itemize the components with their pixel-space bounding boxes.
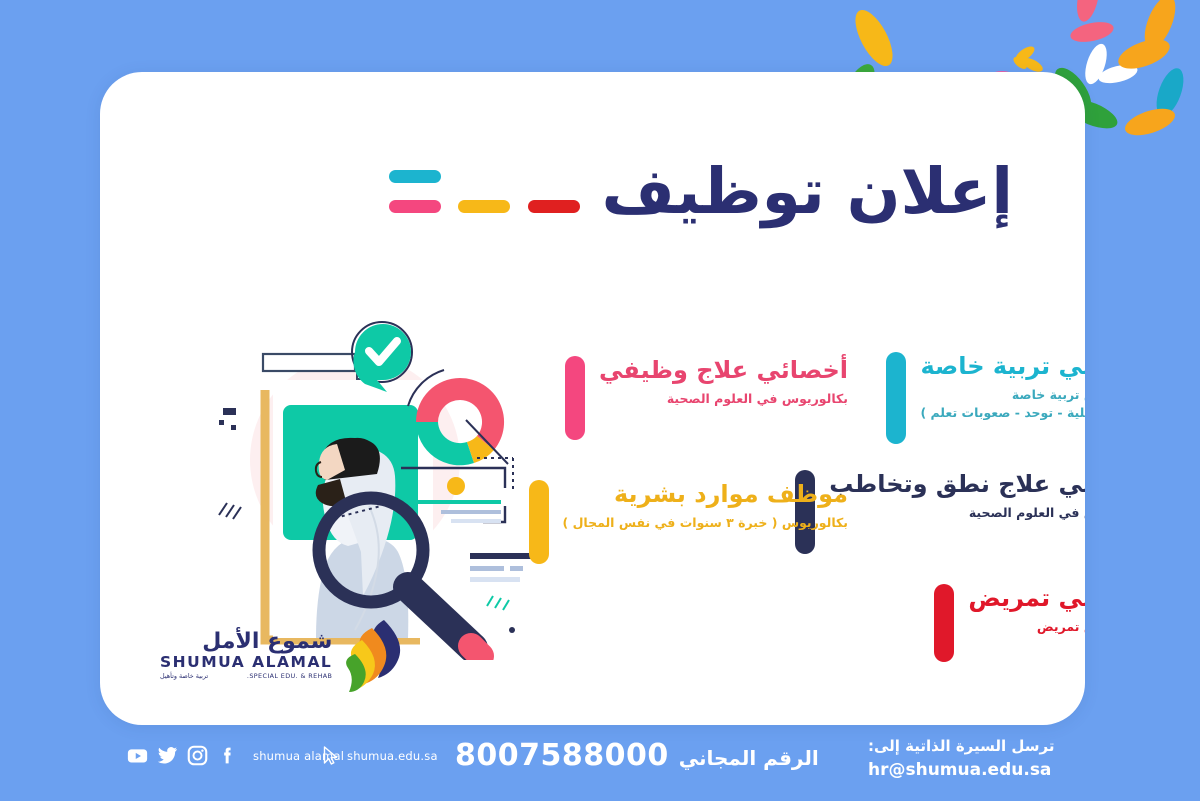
butterfly-orange-icon bbox=[1115, 0, 1182, 75]
dash-yellow-icon bbox=[458, 200, 510, 213]
brand-logo: شموع الأمل SHUMUA ALAMAL SPECIAL EDU. & … bbox=[160, 618, 406, 692]
page-title: إعلان توظيف bbox=[602, 160, 1013, 223]
job-accent-pill bbox=[565, 356, 585, 440]
job-item-special-education[interactable]: أخصائي تربية خاصة بكالوريوس تربية خاصة (… bbox=[886, 352, 1085, 444]
website-url: shumua.edu.sa bbox=[347, 749, 438, 763]
job-qualification: بكالوريوس تمريض bbox=[968, 618, 1085, 636]
job-title: أخصائي تربية خاصة bbox=[920, 352, 1085, 381]
phone-label: الرقم المجاني bbox=[679, 746, 819, 770]
logo-subtitle-english: SPECIAL EDU. & REHAB. bbox=[247, 673, 332, 679]
job-accent-pill bbox=[934, 584, 954, 662]
dash-red-icon bbox=[528, 200, 580, 213]
poster-root: إعلان توظيف bbox=[0, 0, 1200, 801]
butterfly-yellow-icon bbox=[1011, 44, 1044, 75]
youtube-icon[interactable] bbox=[127, 745, 148, 766]
twitter-icon[interactable] bbox=[157, 745, 178, 766]
cursor-icon bbox=[322, 746, 339, 766]
job-title: موظف موارد بشرية bbox=[563, 480, 849, 509]
jobs-list: أخصائي تربية خاصة بكالوريوس تربية خاصة (… bbox=[450, 352, 1085, 692]
leaf-white2-icon bbox=[1097, 61, 1140, 86]
leaf-yellow-icon bbox=[848, 5, 900, 72]
website-link[interactable]: shumua.edu.sa bbox=[322, 746, 438, 766]
job-qualification: بكالوريوس ( خبرة ٣ سنوات في نفس المجال ) bbox=[563, 514, 849, 532]
logo-subtitle-arabic: تربية خاصة وتأهيل bbox=[160, 673, 208, 679]
job-item-nursing[interactable]: أخصائي تمريض بكالوريوس تمريض bbox=[934, 584, 1085, 662]
logo-name-english: SHUMUA ALAMAL bbox=[160, 655, 332, 671]
job-item-human-resources[interactable]: موظف موارد بشرية بكالوريوس ( خبرة ٣ سنوا… bbox=[529, 480, 849, 564]
leaf-white-icon bbox=[1081, 41, 1111, 87]
toll-free-phone: الرقم المجاني 8007588000 bbox=[455, 738, 819, 773]
cv-email[interactable]: hr@shumua.edu.sa bbox=[868, 758, 1055, 784]
footer: shumua alamal shumua.edu.sa الرقم المجان… bbox=[0, 730, 1200, 801]
decorative-dashes bbox=[386, 164, 576, 220]
job-qualification: بكالوريوس في العلوم الصحية bbox=[829, 504, 1085, 522]
leaf-orange2-icon bbox=[1122, 104, 1178, 141]
cv-submission: ترسل السيرة الذاتية إلى: hr@shumua.edu.s… bbox=[868, 735, 1055, 783]
job-title: أخصائي علاج وظيفي bbox=[599, 356, 848, 385]
facebook-icon[interactable] bbox=[217, 745, 238, 766]
title-row: إعلان توظيف bbox=[386, 160, 1013, 223]
job-qualification: بكالوريوس في العلوم الصحية bbox=[599, 390, 848, 408]
leaf-teal-icon bbox=[1151, 65, 1189, 120]
job-accent-pill bbox=[529, 480, 549, 564]
job-qualification-detail: ( إعاقة عقلية - توحد - صعوبات تعلم ) bbox=[920, 404, 1085, 422]
job-title: أخصائي تمريض bbox=[968, 584, 1085, 613]
job-title: أخصائي علاج نطق وتخاطب bbox=[829, 470, 1085, 499]
poster-card: إعلان توظيف bbox=[100, 72, 1085, 725]
instagram-icon[interactable] bbox=[187, 745, 208, 766]
phone-number: 8007588000 bbox=[455, 738, 669, 773]
job-accent-pill bbox=[886, 352, 906, 444]
cv-label: ترسل السيرة الذاتية إلى: bbox=[868, 735, 1055, 758]
leaf-pink-icon bbox=[1073, 0, 1103, 24]
job-qualification: بكالوريوس تربية خاصة bbox=[920, 386, 1085, 404]
job-item-occupational-therapy[interactable]: أخصائي علاج وظيفي بكالوريوس في العلوم ال… bbox=[565, 356, 848, 440]
dash-pink-icon bbox=[389, 200, 441, 213]
flame-logo-icon bbox=[344, 618, 406, 692]
leaf-pink2-icon bbox=[1069, 19, 1116, 46]
social-links: shumua alamal bbox=[127, 745, 344, 766]
dash-teal-icon bbox=[389, 170, 441, 183]
logo-name-arabic: شموع الأمل bbox=[160, 631, 332, 653]
